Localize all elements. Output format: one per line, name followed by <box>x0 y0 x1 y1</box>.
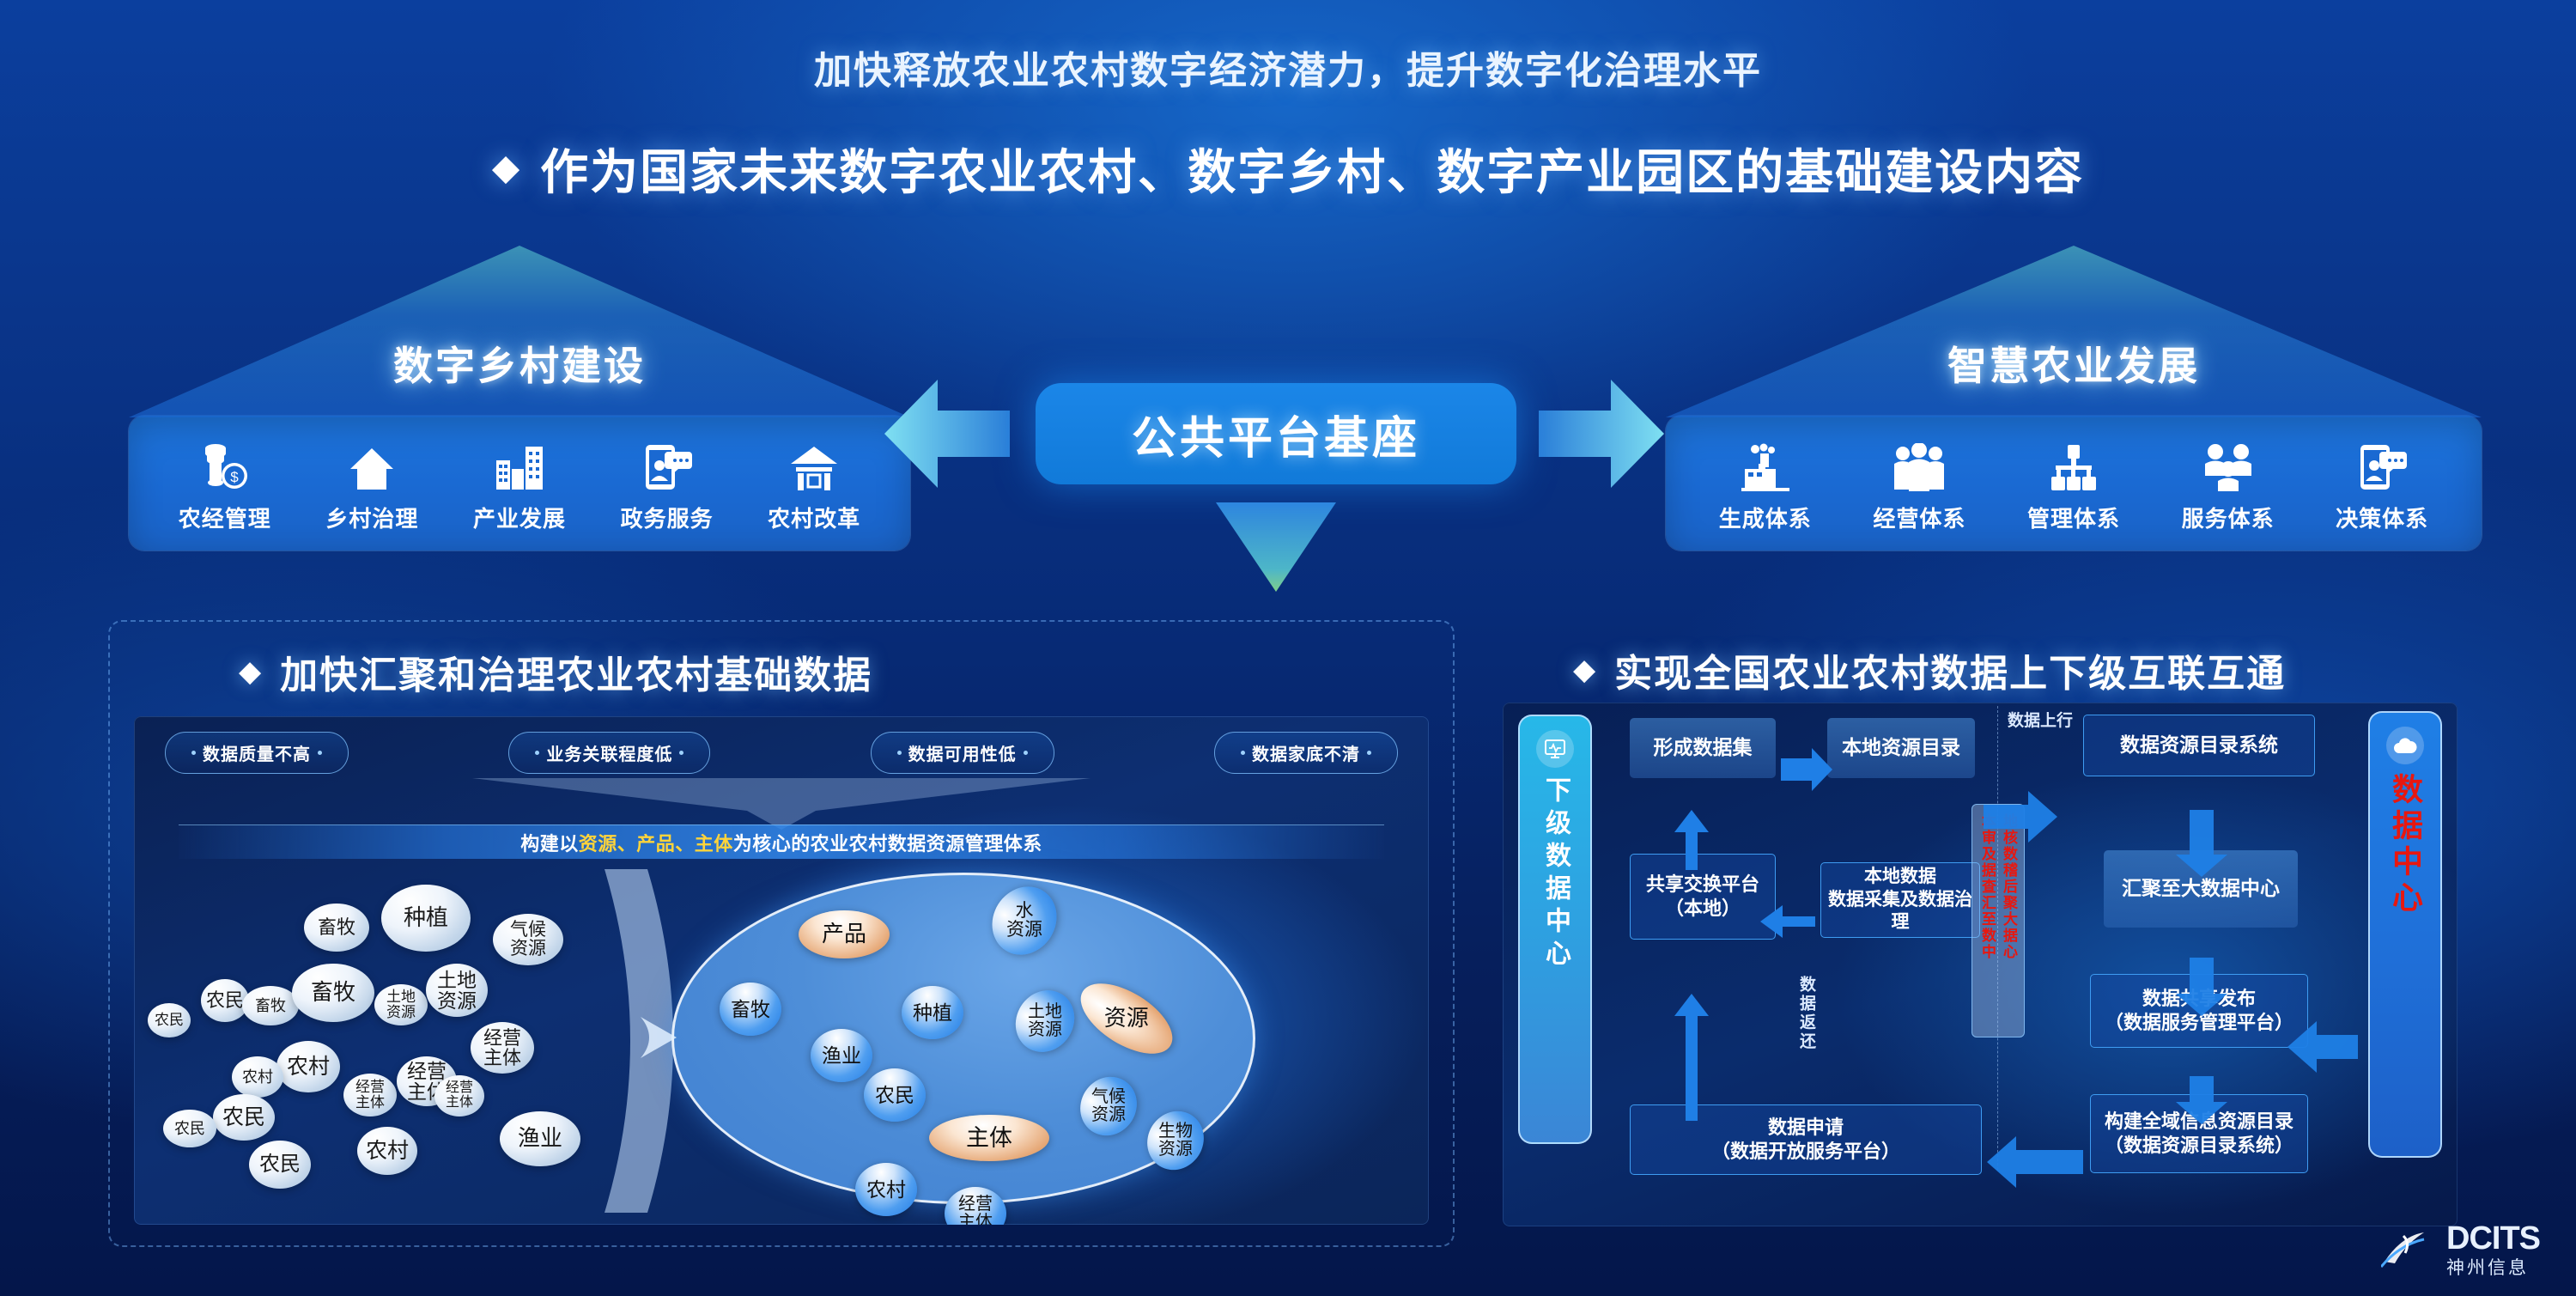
box-global-catalog[interactable]: 构建全域信息资源目录（数据资源目录系统） <box>2090 1094 2308 1173</box>
left-item-4[interactable]: 农村改革 <box>762 440 866 533</box>
right-item-2[interactable]: 管理体系 <box>2022 440 2125 533</box>
right-item-1[interactable]: 经营体系 <box>1868 440 1971 533</box>
scatter-bubble: 畜牧 <box>242 986 299 1025</box>
box-data-apply-label: 数据申请（数据开放服务平台） <box>1711 1116 1900 1164</box>
problem-pill-label: 数据质量不高 <box>203 740 311 765</box>
org-chart-icon <box>2049 440 2099 491</box>
left-item-2-label: 产业发展 <box>473 502 566 533</box>
box-share-publish[interactable]: 数据共享发布（数据服务管理平台） <box>2090 974 2308 1048</box>
scatter-bubble: 土地资源 <box>374 984 428 1025</box>
box-share-publish-label: 数据共享发布（数据服务管理平台） <box>2105 987 2293 1035</box>
bullet-dot-icon <box>897 751 902 755</box>
box-form-dataset[interactable]: 形成数据集 <box>1630 718 1776 778</box>
scatter-bubble: 农民 <box>201 979 249 1022</box>
data-node-bubble: 农村 <box>855 1163 917 1216</box>
scatter-bubble: 经营主体 <box>434 1075 484 1117</box>
right-item-1-label: 经营体系 <box>1873 502 1965 533</box>
right-item-0-label: 生成体系 <box>1719 502 1812 533</box>
box-catalog-system-label: 数据资源目录系统 <box>2120 733 2278 758</box>
scatter-bubble: 农民 <box>148 1003 191 1037</box>
diamond-bullet-icon: ◆ <box>239 654 263 689</box>
diamond-bullet-icon: ◆ <box>492 149 521 186</box>
bullet-dot-icon <box>191 751 196 755</box>
left-item-2[interactable]: 产业发展 <box>468 440 571 533</box>
problem-pill[interactable]: 业务关联程度低 <box>508 732 710 774</box>
box-form-dataset-label: 形成数据集 <box>1654 735 1753 760</box>
right-house-body: 生成体系 经营体系 <box>1666 416 2482 551</box>
money-stack-icon: $ <box>200 440 250 491</box>
scatter-bubble: 经营主体 <box>343 1074 397 1117</box>
scatter-bubble: 农民 <box>163 1110 216 1147</box>
left-item-1-label: 乡村治理 <box>325 502 418 533</box>
logo-cn-text: 神州信息 <box>2446 1259 2540 1277</box>
right-house-title: 智慧农业发展 <box>1947 335 2200 417</box>
scatter-bubble: 农民 <box>213 1094 275 1141</box>
box-local-data[interactable]: 本地数据数据采集及数据治理 <box>1820 862 1980 938</box>
cloud-icon <box>2386 727 2424 764</box>
left-panel-heading-text: 加快汇聚和治理农业农村基础数据 <box>280 644 872 699</box>
lower-data-center-label: 下级数据中心 <box>1536 776 1574 972</box>
red-note-col-right: 地核数稽后聚大据心 <box>1998 813 2020 1028</box>
svg-text:$: $ <box>230 469 239 485</box>
core-bar-highlight: 资源、产品、主体 <box>579 829 733 856</box>
monitor-pulse-icon <box>1536 730 1574 768</box>
data-node-bubble: 生物资源 <box>1136 1100 1214 1180</box>
problem-pill[interactable]: 数据家底不清 <box>1214 732 1398 774</box>
mobile-service-icon <box>2357 440 2407 491</box>
problem-pill-label: 数据可用性低 <box>908 740 1017 765</box>
people-service-icon <box>2203 440 2253 491</box>
mobile-service-icon <box>642 440 692 491</box>
left-item-0[interactable]: $ 农经管理 <box>173 440 276 533</box>
red-annotation-note: 地核数稽后聚大据心 本审及据查汇至数中 <box>1971 804 2025 1037</box>
bullet-dot-icon <box>1024 751 1028 755</box>
box-global-catalog-label: 构建全域信息资源目录（数据资源目录系统） <box>2105 1110 2293 1158</box>
page-title: 加快释放农业农村数字经济潜力，提升数字化治理水平 <box>0 40 2576 94</box>
dcits-mark-icon <box>2381 1227 2436 1272</box>
data-node-bubble: 畜牧 <box>720 983 781 1036</box>
problem-pill-label: 业务关联程度低 <box>546 740 672 765</box>
data-center-label: 数据中心 <box>2383 773 2427 917</box>
public-platform-label: 公共平台基座 <box>1132 402 1420 466</box>
scatter-bubble: 畜牧 <box>292 964 374 1022</box>
left-item-3-label: 政务服务 <box>621 502 714 533</box>
scatter-bubble: 农村 <box>276 1041 340 1092</box>
data-node-bubble: 种植 <box>902 986 963 1039</box>
scatter-bubble: 渔业 <box>500 1111 580 1166</box>
factory-icon <box>1741 440 1789 491</box>
right-item-3[interactable]: 服务体系 <box>2177 440 2280 533</box>
box-exchange-platform-label: 共享交换平台（本地） <box>1646 873 1759 921</box>
scatter-bubble: 农村 <box>232 1056 283 1098</box>
label-data-return: 数据返还 <box>1795 976 1818 1051</box>
right-panel-canvas: 下级数据中心 数据中心 形成数据集 本地资源目录 共享交换平台（本地） <box>1503 703 2458 1226</box>
core-bar-prefix: 构建以 <box>520 829 579 856</box>
box-local-data-label: 本地数据数据采集及数据治理 <box>1821 866 1979 935</box>
scatter-bubble-cloud: 畜牧种植气候资源农民畜牧畜牧土地资源土地资源农民经营主体农村农村经营主体经营主体… <box>148 878 629 1204</box>
data-node-bubble: 渔业 <box>811 1029 872 1082</box>
scatter-bubble: 土地资源 <box>426 964 488 1017</box>
bullet-dot-icon <box>535 751 539 755</box>
right-house-roof: 智慧农业发展 <box>1666 246 2482 417</box>
scatter-bubble: 农村 <box>357 1127 417 1175</box>
right-item-4[interactable]: 决策体系 <box>2330 440 2433 533</box>
scatter-bubble: 畜牧 <box>304 904 369 952</box>
right-item-0[interactable]: 生成体系 <box>1714 440 1817 533</box>
right-item-2-label: 管理体系 <box>2027 502 2120 533</box>
diamond-bullet-icon: ◆ <box>1573 653 1597 687</box>
label-data-upload: 数据上行 <box>2008 708 2073 731</box>
left-bottom-panel: ◆ 加快汇聚和治理农业农村基础数据 数据质量不高 业务关联程度低 数据可用性低 <box>108 620 1455 1247</box>
people-group-icon <box>1893 440 1946 491</box>
box-local-catalog[interactable]: 本地资源目录 <box>1827 718 1975 778</box>
house-icon <box>349 440 395 491</box>
right-item-3-label: 服务体系 <box>2182 502 2275 533</box>
data-center-card[interactable]: 数据中心 <box>2368 711 2442 1158</box>
farmhouse-icon <box>789 440 839 491</box>
box-aggregate-center[interactable]: 汇聚至大数据中心 <box>2104 850 2298 928</box>
box-catalog-system[interactable]: 数据资源目录系统 <box>2083 715 2315 776</box>
left-house-body: $ 农经管理 乡村治理 <box>129 416 910 551</box>
right-bottom-panel: ◆ 实现全国农业农村数据上下级互联互通 下级数据中心 <box>1479 620 2482 1247</box>
left-panel-heading: ◆ 加快汇聚和治理农业农村基础数据 <box>110 622 1453 699</box>
scatter-bubble: 种植 <box>381 885 471 952</box>
bullet-dot-icon <box>1241 751 1245 755</box>
page-subtitle: ◆ 作为国家未来数字农业农村、数字乡村、数字产业园区的基础建设内容 <box>0 134 2576 204</box>
funnel-shape-icon <box>472 778 1091 831</box>
right-panel-heading: ◆ 实现全国农业农村数据上下级互联互通 <box>1479 620 2482 697</box>
left-item-0-label: 农经管理 <box>179 502 271 533</box>
problem-pill-label: 数据家底不清 <box>1252 740 1360 765</box>
data-node-bubble: 主体 <box>929 1115 1049 1161</box>
bullet-dot-icon <box>679 751 683 755</box>
lower-data-center-card[interactable]: 下级数据中心 <box>1518 715 1592 1144</box>
slide-root: 加快释放农业农村数字经济潜力，提升数字化治理水平 ◆ 作为国家未来数字农业农村、… <box>0 0 2576 1296</box>
public-platform-base[interactable]: 公共平台基座 <box>1036 383 1516 484</box>
left-panel-canvas: 数据质量不高 业务关联程度低 数据可用性低 数据家底不清 <box>134 716 1429 1225</box>
bullet-dot-icon <box>318 751 322 755</box>
problem-pill[interactable]: 数据可用性低 <box>871 732 1054 774</box>
left-house-banner: 数字乡村建设 $ 农经管理 <box>129 246 910 551</box>
left-item-1[interactable]: 乡村治理 <box>320 440 423 533</box>
red-note-col-left: 本审及据查汇至数中 <box>1977 813 1998 1028</box>
scatter-bubble: 气候资源 <box>493 914 563 965</box>
left-item-3[interactable]: 政务服务 <box>616 440 719 533</box>
data-node-bubble: 资源 <box>1069 970 1184 1068</box>
core-system-bar: 构建以资源、产品、主体为核心的农业农村数据资源管理体系 <box>179 824 1384 859</box>
problem-pill[interactable]: 数据质量不高 <box>165 732 349 774</box>
data-node-bubble: 土地资源 <box>1004 979 1085 1063</box>
data-node-bubble: 产品 <box>799 910 890 958</box>
logo-en-text: DCITS <box>2446 1222 2540 1255</box>
left-item-4-label: 农村改革 <box>768 502 860 533</box>
box-aggregate-center-label: 汇聚至大数据中心 <box>2122 876 2280 901</box>
data-node-bubble: 经营主体 <box>945 1187 1006 1225</box>
right-house-banner: 智慧农业发展 生成体系 <box>1666 246 2482 551</box>
bullet-dot-icon <box>1367 751 1371 755</box>
buildings-icon <box>495 440 544 491</box>
organized-node-group: 产品水资源畜牧种植土地资源资源渔业农民气候资源主体生物资源农村经营主体 <box>671 873 1255 1204</box>
box-data-apply[interactable]: 数据申请（数据开放服务平台） <box>1630 1104 1982 1175</box>
arrow-left-icon <box>881 369 1010 498</box>
left-house-roof: 数字乡村建设 <box>129 246 910 417</box>
box-exchange-platform[interactable]: 共享交换平台（本地） <box>1630 854 1776 940</box>
arrow-down-icon <box>1216 502 1336 595</box>
company-logo: DCITS 神州信息 <box>2381 1222 2540 1277</box>
right-item-4-label: 决策体系 <box>2336 502 2428 533</box>
left-house-title: 数字乡村建设 <box>393 335 646 417</box>
data-node-bubble: 水资源 <box>980 874 1070 967</box>
scatter-bubble: 经营主体 <box>471 1022 534 1074</box>
right-panel-heading-text: 实现全国农业农村数据上下级互联互通 <box>1614 642 2286 697</box>
data-node-bubble: 农民 <box>864 1068 926 1122</box>
page-subtitle-text: 作为国家未来数字农业农村、数字乡村、数字产业园区的基础建设内容 <box>540 134 2084 204</box>
core-bar-suffix: 为核心的农业农村数据资源管理体系 <box>733 829 1042 856</box>
problem-pill-row: 数据质量不高 业务关联程度低 数据可用性低 数据家底不清 <box>165 732 1398 774</box>
arrow-right-icon <box>1539 369 1668 498</box>
box-local-catalog-label: 本地资源目录 <box>1842 735 1960 760</box>
data-node-bubble: 气候资源 <box>1069 1066 1147 1146</box>
scatter-bubble: 农民 <box>249 1141 311 1189</box>
